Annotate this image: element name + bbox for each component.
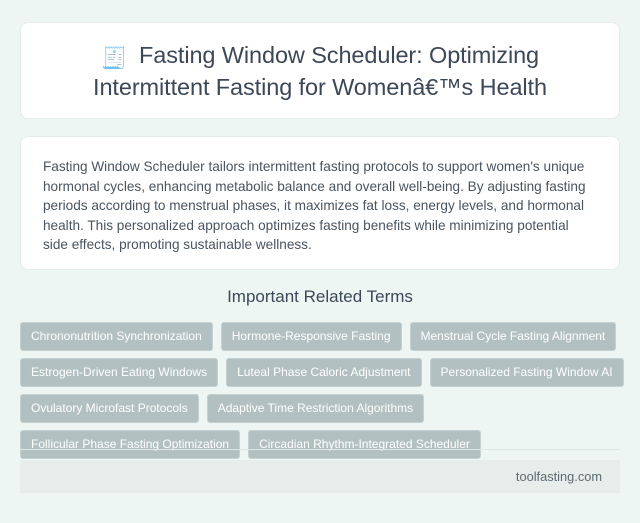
related-term-tag[interactable]: Circadian Rhythm-Integrated Scheduler (248, 430, 481, 459)
related-term-tag[interactable]: Adaptive Time Restriction Algorithms (207, 394, 424, 423)
related-term-tag[interactable]: Chrononutrition Synchronization (20, 322, 213, 351)
footer-divider (20, 449, 620, 450)
description-card: Fasting Window Scheduler tailors intermi… (20, 136, 620, 270)
tag-row: Ovulatory Microfast Protocols Adaptive T… (20, 394, 620, 423)
page-title: 🧾Fasting Window Scheduler: Optimizing In… (49, 39, 591, 103)
tag-row: Follicular Phase Fasting Optimization Ci… (20, 430, 620, 459)
related-term-tag[interactable]: Hormone-Responsive Fasting (221, 322, 402, 351)
tag-row: Chrononutrition Synchronization Hormone-… (20, 322, 620, 351)
tag-row: Estrogen-Driven Eating Windows Luteal Ph… (20, 358, 620, 387)
related-term-tag[interactable]: Personalized Fasting Window AI (430, 358, 624, 387)
description-text: Fasting Window Scheduler tailors intermi… (43, 157, 597, 255)
related-term-tag[interactable]: Follicular Phase Fasting Optimization (20, 430, 240, 459)
title-card: 🧾Fasting Window Scheduler: Optimizing In… (20, 22, 620, 119)
related-terms-section: Important Related Terms Chrononutrition … (20, 286, 620, 466)
related-term-tag[interactable]: Luteal Phase Caloric Adjustment (226, 358, 421, 387)
related-term-tag[interactable]: Menstrual Cycle Fasting Alignment (410, 322, 617, 351)
page-root: 🧾Fasting Window Scheduler: Optimizing In… (0, 0, 640, 523)
receipt-icon: 🧾 (101, 48, 127, 69)
related-term-tag[interactable]: Ovulatory Microfast Protocols (20, 394, 199, 423)
related-terms-list: Chrononutrition Synchronization Hormone-… (20, 322, 620, 459)
related-term-tag[interactable]: Estrogen-Driven Eating Windows (20, 358, 218, 387)
page-title-text: Fasting Window Scheduler: Optimizing Int… (93, 42, 547, 100)
footer: toolfasting.com (20, 460, 620, 493)
related-terms-heading: Important Related Terms (20, 286, 620, 308)
footer-site-name: toolfasting.com (516, 469, 602, 485)
